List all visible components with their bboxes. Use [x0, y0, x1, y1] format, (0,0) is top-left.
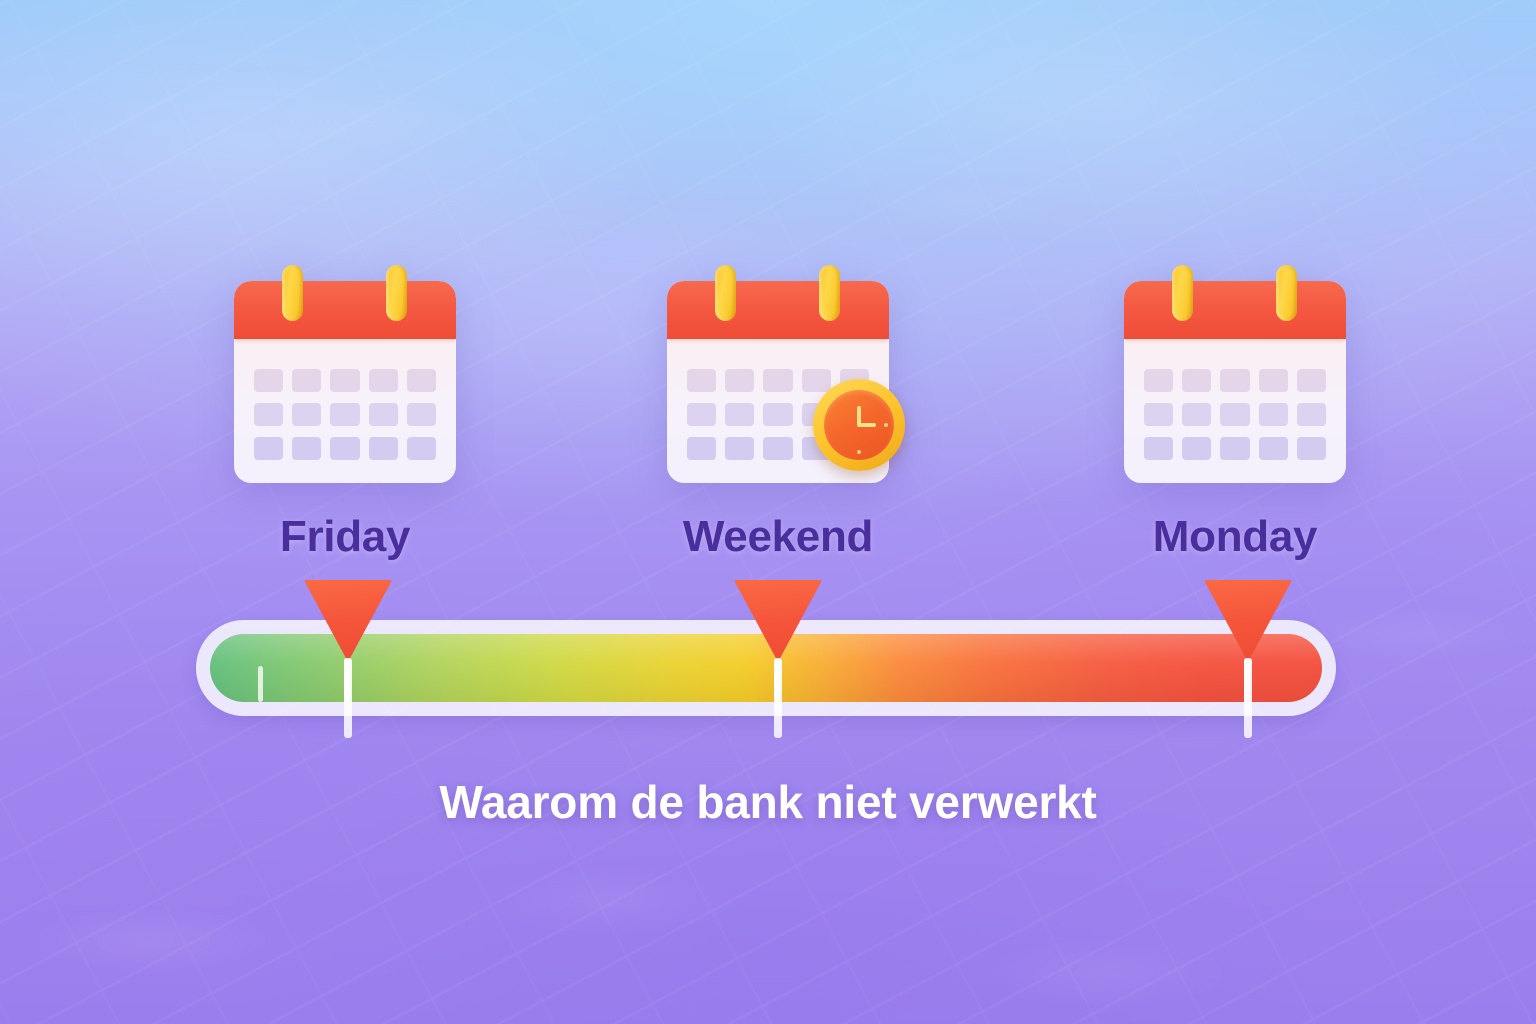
- timeline-step-weekend[interactable]: [648, 255, 908, 495]
- calendar-rings: [667, 263, 889, 309]
- calendar-day-cell: [1220, 403, 1249, 426]
- calendar-day-cell: [1297, 403, 1326, 426]
- calendar-row: [0, 255, 1536, 495]
- calendar-day-cell: [1144, 403, 1173, 426]
- calendar-day-cell: [763, 437, 792, 460]
- calendar-body: [1124, 281, 1346, 483]
- calendar-day-cell: [725, 437, 754, 460]
- calendar-ring-left-icon: [282, 265, 303, 321]
- calendar-day-cell: [407, 437, 436, 460]
- calendar-day-cell: [1220, 437, 1249, 460]
- calendar-day-cell: [1144, 437, 1173, 460]
- caption-text: Waarom de bank niet verwerkt: [0, 775, 1536, 829]
- calendar-ring-left-icon: [715, 265, 736, 321]
- clock-pip-right: [884, 423, 888, 427]
- calendar-day-cell: [1259, 403, 1288, 426]
- timeline-marker-weekend[interactable]: [730, 580, 826, 662]
- calendar-ring-right-icon: [386, 265, 407, 321]
- day-label-monday: Monday: [1085, 512, 1385, 562]
- marker-triangle-icon: [1200, 580, 1296, 662]
- clock-minute-hand: [857, 423, 876, 427]
- day-label-row: Friday Weekend Monday: [0, 512, 1536, 582]
- calendar-day-cell: [330, 437, 359, 460]
- calendar-day-cell: [292, 403, 321, 426]
- day-label-weekend: Weekend: [628, 512, 928, 562]
- calendar-day-cell: [802, 369, 831, 392]
- calendar-day-cell: [1182, 437, 1211, 460]
- clock-pip-bottom: [857, 450, 861, 454]
- clock-face: [824, 390, 894, 460]
- calendar-day-cell: [407, 403, 436, 426]
- marker-stem: [1244, 658, 1252, 738]
- calendar-day-cell: [292, 437, 321, 460]
- timeline-step-friday[interactable]: [215, 255, 475, 495]
- timeline-marker-friday[interactable]: [300, 580, 396, 662]
- marker-stem: [774, 658, 782, 738]
- calendar-day-cell: [369, 437, 398, 460]
- day-label-friday: Friday: [195, 512, 495, 562]
- calendar-rings: [234, 263, 456, 309]
- calendar-day-cell: [1182, 369, 1211, 392]
- calendar-day-cell: [407, 369, 436, 392]
- calendar-day-cell: [687, 403, 716, 426]
- calendar-day-cell: [254, 403, 283, 426]
- marker-stem: [344, 658, 352, 738]
- clock-icon: [813, 379, 905, 471]
- timeline-progress-bar[interactable]: [196, 620, 1336, 716]
- calendar-day-cell: [1220, 369, 1249, 392]
- calendar-ring-left-icon: [1172, 265, 1193, 321]
- calendar-day-cell: [687, 369, 716, 392]
- calendar-day-grid: [1144, 369, 1326, 460]
- calendar-clock-icon: [667, 263, 889, 483]
- calendar-day-cell: [369, 369, 398, 392]
- timeline-marker-monday[interactable]: [1200, 580, 1296, 662]
- calendar-day-cell: [292, 369, 321, 392]
- calendar-rings: [1124, 263, 1346, 309]
- marker-triangle-icon: [300, 580, 396, 662]
- timeline-step-monday[interactable]: [1105, 255, 1365, 495]
- calendar-day-cell: [725, 403, 754, 426]
- calendar-day-cell: [1259, 437, 1288, 460]
- calendar-day-cell: [330, 369, 359, 392]
- calendar-day-cell: [725, 369, 754, 392]
- calendar-day-cell: [369, 403, 398, 426]
- calendar-day-grid: [254, 369, 436, 460]
- calendar-day-cell: [330, 403, 359, 426]
- calendar-body: [234, 281, 456, 483]
- calendar-day-cell: [1297, 369, 1326, 392]
- calendar-day-cell: [254, 437, 283, 460]
- calendar-day-cell: [254, 369, 283, 392]
- calendar-day-cell: [1182, 403, 1211, 426]
- calendar-day-cell: [763, 369, 792, 392]
- calendar-ring-right-icon: [1276, 265, 1297, 321]
- infographic-canvas: Friday Weekend Monday Waarom de bank nie…: [0, 0, 1536, 1024]
- calendar-day-cell: [1259, 369, 1288, 392]
- calendar-day-cell: [1297, 437, 1326, 460]
- marker-triangle-icon: [730, 580, 826, 662]
- calendar-day-cell: [1144, 369, 1173, 392]
- calendar-day-cell: [763, 403, 792, 426]
- calendar-icon: [234, 263, 456, 483]
- calendar-day-cell: [687, 437, 716, 460]
- timeline-tick-0: [258, 666, 263, 702]
- calendar-icon: [1124, 263, 1346, 483]
- calendar-ring-right-icon: [819, 265, 840, 321]
